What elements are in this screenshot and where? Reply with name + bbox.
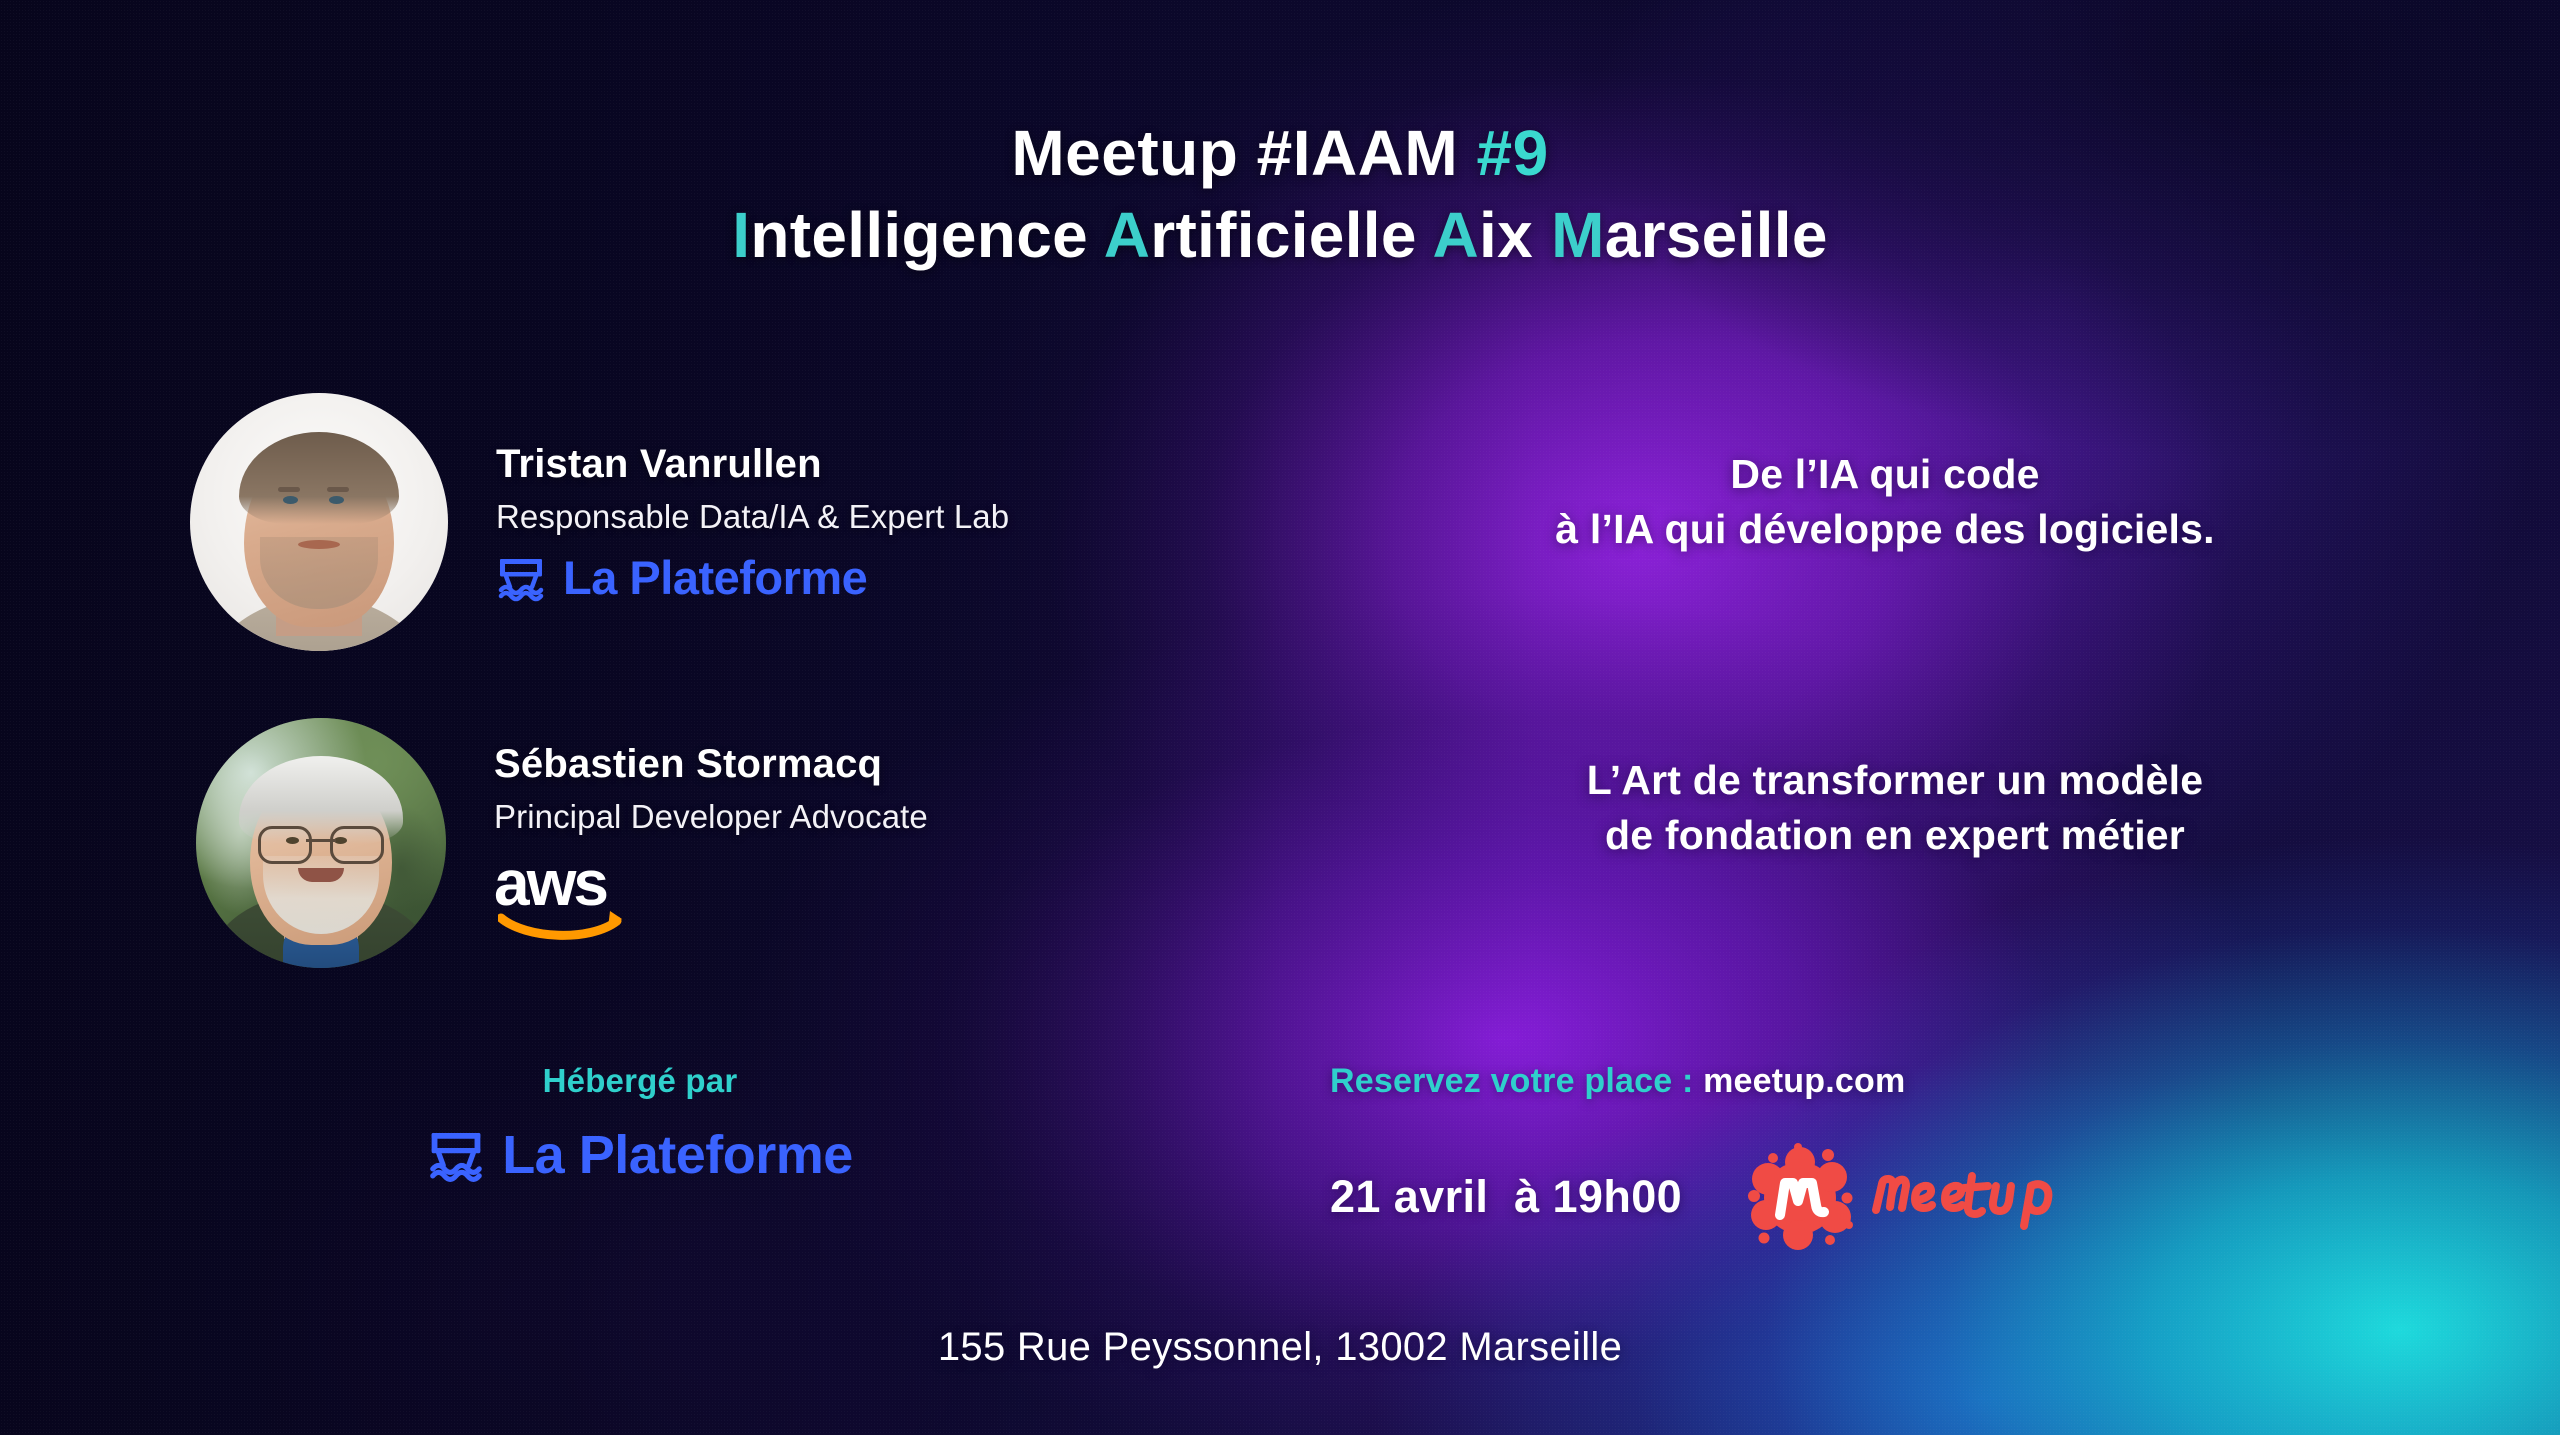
registration-cta-line: Reservez votre place : meetup.com <box>1330 1062 2330 1101</box>
venue-address: 155 Rue Peyssonnel, 13002 Marseille <box>0 1325 2560 1370</box>
acronym-word-artificielle: rtificielle <box>1150 199 1432 271</box>
glasses-lens-left <box>258 826 312 864</box>
acronym-letter-a2: A <box>1432 199 1479 271</box>
registration-url[interactable]: meetup.com <box>1703 1062 1905 1100</box>
talk-title-tristan-vanrullen: De l’IA qui code à l’IA qui développe de… <box>1340 447 2430 556</box>
acronym-letter-i: I <box>732 199 750 271</box>
event-poster: Meetup #IAAM #9 Intelligence Artificiell… <box>0 0 2560 1435</box>
talk-title-line1: L’Art de transformer un modèle <box>1380 753 2410 808</box>
speaker-row-sebastien-stormacq: Sébastien Stormacq Principal Developer A… <box>196 718 928 968</box>
registration-cta-label: Reservez votre place : <box>1330 1062 1703 1100</box>
speaker-info: Sébastien Stormacq Principal Developer A… <box>494 742 928 945</box>
event-title-line1: Meetup #IAAM #9 <box>0 118 2560 190</box>
speaker-role: Responsable Data/IA & Expert Lab <box>496 498 1009 536</box>
talk-title-sebastien-stormacq: L’Art de transformer un modèle de fondat… <box>1380 753 2410 862</box>
event-datetime: 21 avril à 19h00 <box>1330 1171 1682 1223</box>
speaker-name: Tristan Vanrullen <box>496 442 1009 487</box>
glasses-bridge <box>306 839 336 842</box>
acronym-word-aix: ix <box>1479 199 1551 271</box>
la-plateforme-logo: La Plateforme <box>427 1126 853 1184</box>
talk-title-line1: De l’IA qui code <box>1340 447 2430 502</box>
la-plateforme-bridge-icon <box>496 553 546 603</box>
avatar <box>196 718 446 968</box>
registration-datetime-row: 21 avril à 19h00 <box>1330 1143 2330 1251</box>
speaker-info: Tristan Vanrullen Responsable Data/IA & … <box>496 442 1009 603</box>
talk-title-line2: à l’IA qui développe des logiciels. <box>1340 502 2430 557</box>
aws-wordmark: aws <box>494 853 644 914</box>
host-label: Hébergé par <box>340 1062 940 1100</box>
host-logo-wrapper: La Plateforme <box>340 1126 940 1184</box>
event-title-prefix: Meetup #IAAM <box>1011 117 1476 189</box>
portrait-glasses-icon <box>258 826 384 860</box>
meetup-splat-m-icon <box>1740 1143 1860 1251</box>
speaker-role: Principal Developer Advocate <box>494 798 928 836</box>
aws-logo: aws <box>494 853 644 945</box>
avatar <box>190 393 448 651</box>
host-block: Hébergé par La Plateforme <box>340 1062 940 1184</box>
event-title-line2: Intelligence Artificielle Aix Marseille <box>0 200 2560 272</box>
meetup-wordmark <box>1868 1162 2068 1232</box>
acronym-word-marseille: arseille <box>1605 199 1828 271</box>
portrait-eyebrow-left <box>278 487 300 492</box>
portrait-mouth <box>298 540 340 549</box>
speaker-organization: La Plateforme <box>496 553 1009 603</box>
meetup-logo[interactable] <box>1740 1143 2068 1251</box>
portrait-eyebrow-right <box>327 487 349 492</box>
registration-block: Reservez votre place : meetup.com 21 avr… <box>1330 1062 2330 1251</box>
la-plateforme-logo: La Plateforme <box>496 553 1009 603</box>
portrait-mouth <box>298 868 344 882</box>
la-plateforme-wordmark: La Plateforme <box>502 1128 853 1182</box>
event-edition-number: #9 <box>1477 117 1549 189</box>
acronym-word-intelligence: ntelligence <box>750 199 1103 271</box>
speaker-organization: aws <box>494 853 928 945</box>
talk-title-line2: de fondation en expert métier <box>1380 808 2410 863</box>
speaker-name: Sébastien Stormacq <box>494 742 928 787</box>
acronym-letter-a1: A <box>1104 199 1151 271</box>
acronym-letter-m: M <box>1551 199 1605 271</box>
la-plateforme-wordmark: La Plateforme <box>563 554 867 601</box>
la-plateforme-bridge-icon <box>427 1126 485 1184</box>
poster-header: Meetup #IAAM #9 Intelligence Artificiell… <box>0 118 2560 271</box>
glasses-lens-right <box>330 826 384 864</box>
speaker-row-tristan-vanrullen: Tristan Vanrullen Responsable Data/IA & … <box>190 393 1009 651</box>
